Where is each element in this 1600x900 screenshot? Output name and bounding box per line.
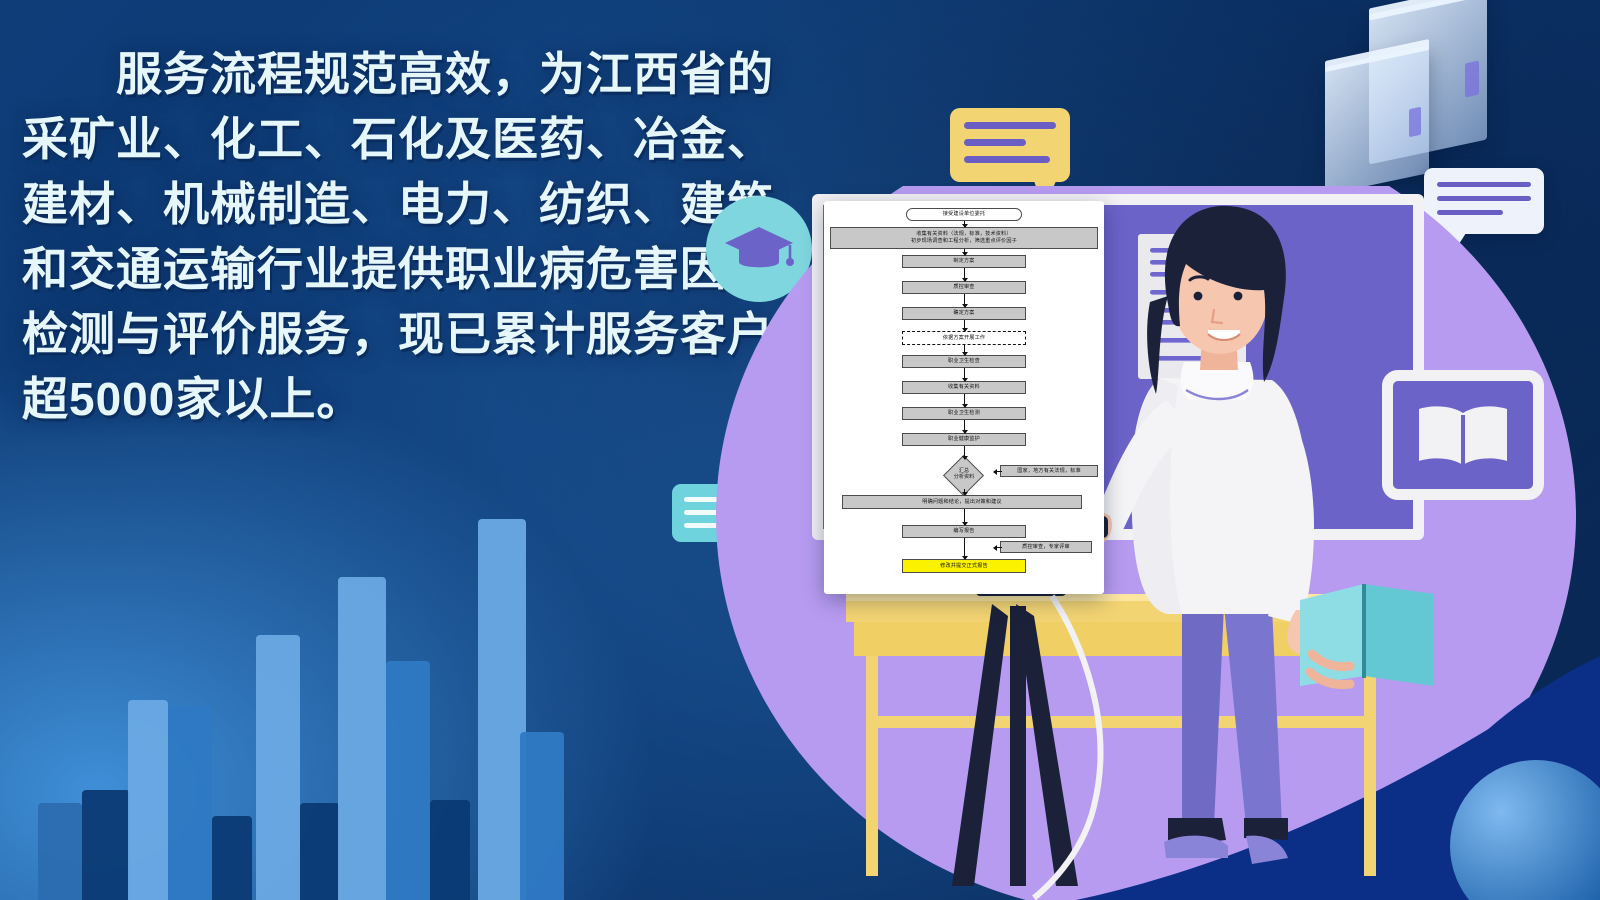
page-title: 服务流程规范高效，为江西省的采矿业、化工、石化及医药、冶金、建材、机械制造、电力… [22,42,782,432]
flow-arrowhead [962,328,968,332]
flow-node-n12: 明确问题和结论，提出对策和建议 [842,495,1082,509]
bar-chart-bar [430,800,470,900]
flow-node-n8: 收集有关资料 [902,381,1026,394]
flow-node-n13: 编写报告 [902,525,1026,538]
flow-side-node-s2: 质控审查，专家评审 [1000,541,1092,553]
flow-connector [996,547,1002,548]
flow-node-n9: 职业卫生检测 [902,407,1026,420]
bar-chart-bar [212,816,252,900]
flow-node-n3: 制定方案 [902,255,1026,268]
flow-arrowhead [962,404,968,408]
flow-node-n1: 接受建设单位委托 [906,208,1022,221]
flow-arrowhead [993,469,997,475]
flow-arrowhead [962,278,968,282]
bar-chart-bar [338,577,386,900]
bar-chart-bar [386,661,430,900]
flow-arrowhead [962,522,968,526]
bar-chart-bar [168,706,212,900]
flow-node-n4: 质控审查 [902,281,1026,294]
bar-chart-bar [128,700,168,900]
flow-arrowhead [962,304,968,308]
flow-arrowhead [962,352,968,356]
bar-chart-bar [256,635,300,900]
bar-chart-bar [520,732,564,900]
bar-chart-bar [300,803,340,900]
flow-side-node-s1: 国家，地方有关法规，标准 [1000,465,1098,477]
flow-node-decision-label: 汇总分析资料 [936,459,992,489]
flow-node-n7: 职业卫生检查 [902,355,1026,368]
flow-node-n5: 确定方案 [902,307,1026,320]
flow-arrowhead [962,378,968,382]
flow-arrowhead [962,456,968,460]
flow-node-n14: 修改并提交正式报告 [902,559,1026,573]
flow-arrowhead [962,224,968,228]
flow-node-n6: 依据方案开展工作 [902,331,1026,345]
flow-arrowhead [993,545,997,551]
poster-canvas: 服务流程规范高效，为江西省的采矿业、化工、石化及医药、冶金、建材、机械制造、电力… [0,0,1600,900]
flow-arrowhead [962,252,968,256]
bar-chart-bar [82,790,130,900]
bar-chart-bar [38,803,82,900]
flow-node-n2: 收集有关资料（法规，标准，技术资料）初步现场调查和工程分析，筛选重点评价因子 [830,227,1098,249]
flowchart-panel: 接受建设单位委托收集有关资料（法规，标准，技术资料）初步现场调查和工程分析，筛选… [824,201,1104,594]
flow-arrowhead [962,556,968,560]
flow-arrowhead [962,430,968,434]
open-book-icon [1382,370,1544,500]
background-bar-chart [0,480,720,900]
flow-node-n10: 职业健康监护 [902,433,1026,446]
speech-bubble-yellow [950,108,1070,182]
bar-chart-bar [478,519,526,900]
flow-arrowhead [962,492,968,496]
flow-connector [996,471,1002,472]
